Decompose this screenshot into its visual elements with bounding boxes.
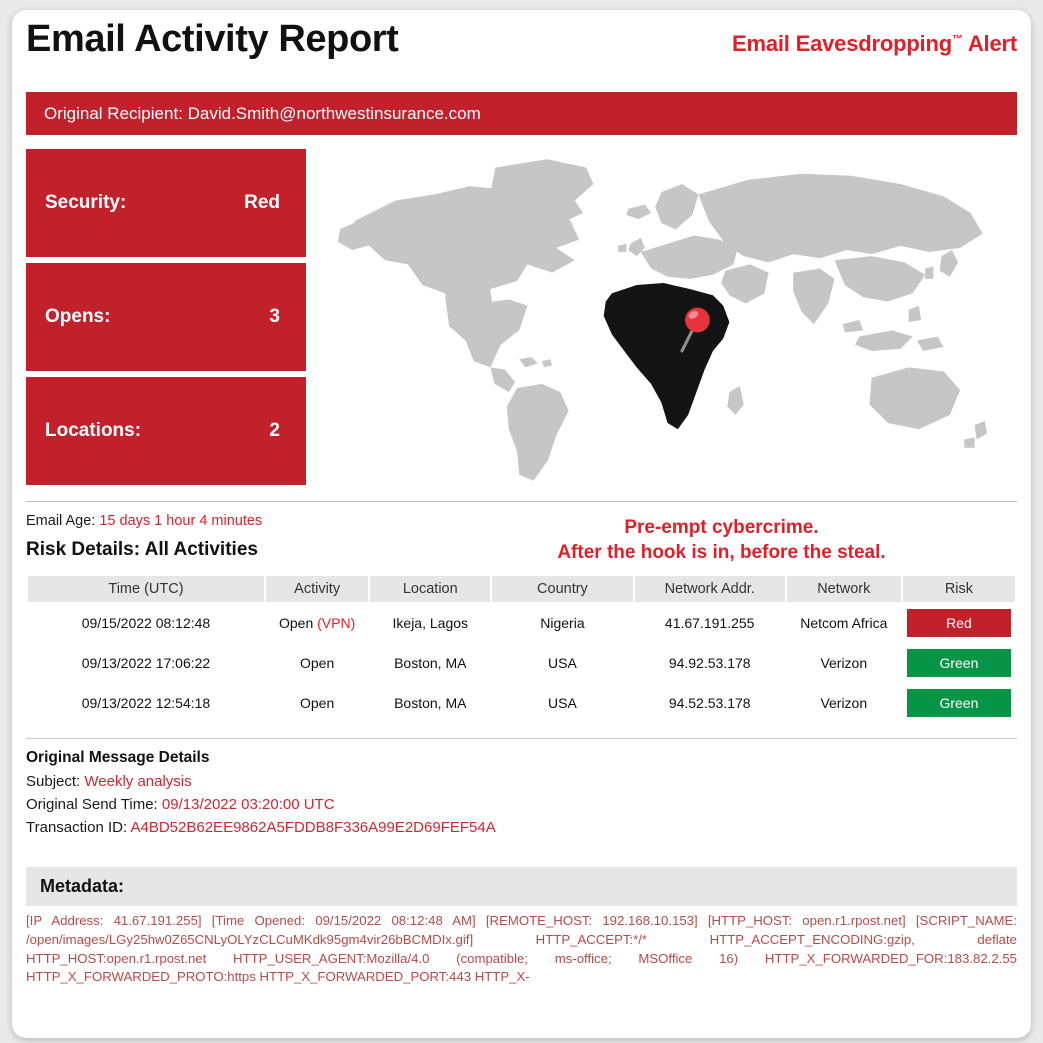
activity-type: Open xyxy=(300,695,334,711)
age-and-tagline-row: Email Age: 15 days 1 hour 4 minutes Risk… xyxy=(26,513,1017,565)
alert-title-suffix: Alert xyxy=(963,31,1017,56)
page-title: Email Activity Report xyxy=(26,18,398,61)
marketing-tagline: Pre-empt cybercrime. After the hook is i… xyxy=(456,513,1017,565)
message-transaction-line: Transaction ID: A4BD52B62EE9862A5FDDB8F3… xyxy=(26,819,1017,836)
email-age: Email Age: 15 days 1 hour 4 minutes xyxy=(26,513,456,529)
world-map xyxy=(314,149,1017,489)
alert-title-main: Email Eavesdropping xyxy=(732,31,952,56)
message-send-time-line: Original Send Time: 09/13/2022 03:20:00 … xyxy=(26,796,1017,813)
tagline-line-1: Pre-empt cybercrime. xyxy=(456,515,987,540)
metadata-body: [IP Address: 41.67.191.255] [Time Opened… xyxy=(26,912,1017,987)
cell-network: Netcom Africa xyxy=(787,604,901,642)
cell-network-addr: 94.52.53.178 xyxy=(635,684,785,722)
cell-location: Boston, MA xyxy=(370,684,490,722)
email-age-value: 15 days 1 hour 4 minutes xyxy=(99,513,262,529)
column-header-activity: Activity xyxy=(266,576,368,602)
stat-label-security: Security: xyxy=(45,192,126,214)
table-row: 09/13/2022 12:54:18 Open Boston, MA USA … xyxy=(28,684,1015,722)
trademark-symbol: ™ xyxy=(952,34,963,46)
stat-card-locations: Locations: 2 xyxy=(26,377,306,485)
tagline-line-2: After the hook is in, before the steal. xyxy=(456,540,987,565)
map-highlight-africa xyxy=(604,283,730,429)
message-details-title: Original Message Details xyxy=(26,749,1017,767)
report-header: Email Activity Report Email Eavesdroppin… xyxy=(12,10,1031,61)
cell-risk: Green xyxy=(903,684,1015,722)
stat-value-opens: 3 xyxy=(269,306,280,328)
cell-location: Boston, MA xyxy=(370,644,490,682)
column-header-time: Time (UTC) xyxy=(28,576,264,602)
cell-network-addr: 41.67.191.255 xyxy=(635,604,785,642)
activity-table: Time (UTC) Activity Location Country Net… xyxy=(26,574,1017,724)
activity-type: Open xyxy=(300,655,334,671)
stats-column: Security: Red Opens: 3 Locations: 2 xyxy=(26,149,306,489)
metadata-header: Metadata: xyxy=(26,867,1017,906)
stat-card-security: Security: Red xyxy=(26,149,306,257)
cell-country: USA xyxy=(492,644,632,682)
cell-time: 09/15/2022 08:12:48 xyxy=(28,604,264,642)
cell-risk: Green xyxy=(903,644,1015,682)
summary-section: Security: Red Opens: 3 Locations: 2 xyxy=(26,149,1017,489)
report-card: Email Activity Report Email Eavesdroppin… xyxy=(12,10,1031,1038)
activity-vpn-flag: (VPN) xyxy=(317,615,355,631)
cell-country: USA xyxy=(492,684,632,722)
transaction-label: Transaction ID: xyxy=(26,819,127,836)
original-recipient-label: Original Recipient: David.Smith@northwes… xyxy=(44,104,481,124)
status-badge: Green xyxy=(907,689,1011,717)
message-subject-line: Subject: Weekly analysis xyxy=(26,773,1017,790)
send-time-label: Original Send Time: xyxy=(26,796,158,813)
cell-time: 09/13/2022 12:54:18 xyxy=(28,684,264,722)
original-recipient-bar: Original Recipient: David.Smith@northwes… xyxy=(26,92,1017,135)
status-badge: Green xyxy=(907,649,1011,677)
cell-activity: Open xyxy=(266,644,368,682)
send-time-value: 09/13/2022 03:20:00 UTC xyxy=(162,796,335,813)
cell-activity: Open (VPN) xyxy=(266,604,368,642)
column-header-network-addr: Network Addr. xyxy=(635,576,785,602)
stat-value-security: Red xyxy=(244,192,280,214)
cell-network: Verizon xyxy=(787,684,901,722)
column-header-country: Country xyxy=(492,576,632,602)
table-header-row: Time (UTC) Activity Location Country Net… xyxy=(28,576,1015,602)
risk-details-title: Risk Details: All Activities xyxy=(26,539,456,561)
status-badge: Red xyxy=(907,609,1011,637)
stat-label-locations: Locations: xyxy=(45,420,141,442)
cell-time: 09/13/2022 17:06:22 xyxy=(28,644,264,682)
cell-activity: Open xyxy=(266,684,368,722)
table-row: 09/15/2022 08:12:48 Open (VPN) Ikeja, La… xyxy=(28,604,1015,642)
cell-network-addr: 94.92.53.178 xyxy=(635,644,785,682)
cell-risk: Red xyxy=(903,604,1015,642)
cell-country: Nigeria xyxy=(492,604,632,642)
divider-message-details xyxy=(26,738,1017,739)
original-message-details: Original Message Details Subject: Weekly… xyxy=(26,749,1017,836)
column-header-risk: Risk xyxy=(903,576,1015,602)
activity-type: Open xyxy=(279,615,313,631)
transaction-value: A4BD52B62EE9862A5FDDB8F336A99E2D69FEF54A xyxy=(131,819,496,836)
stat-label-opens: Opens: xyxy=(45,306,110,328)
age-block: Email Age: 15 days 1 hour 4 minutes Risk… xyxy=(26,513,456,561)
subject-value: Weekly analysis xyxy=(84,773,191,790)
cell-network: Verizon xyxy=(787,644,901,682)
divider-top xyxy=(26,501,1017,502)
column-header-network: Network xyxy=(787,576,901,602)
world-map-svg xyxy=(314,149,1017,489)
stat-value-locations: 2 xyxy=(269,420,280,442)
eavesdropping-alert-title: Email Eavesdropping™ Alert xyxy=(732,31,1017,57)
table-row: 09/13/2022 17:06:22 Open Boston, MA USA … xyxy=(28,644,1015,682)
email-age-label: Email Age: xyxy=(26,513,95,529)
stat-card-opens: Opens: 3 xyxy=(26,263,306,371)
column-header-location: Location xyxy=(370,576,490,602)
subject-label: Subject: xyxy=(26,773,80,790)
cell-location: Ikeja, Lagos xyxy=(370,604,490,642)
